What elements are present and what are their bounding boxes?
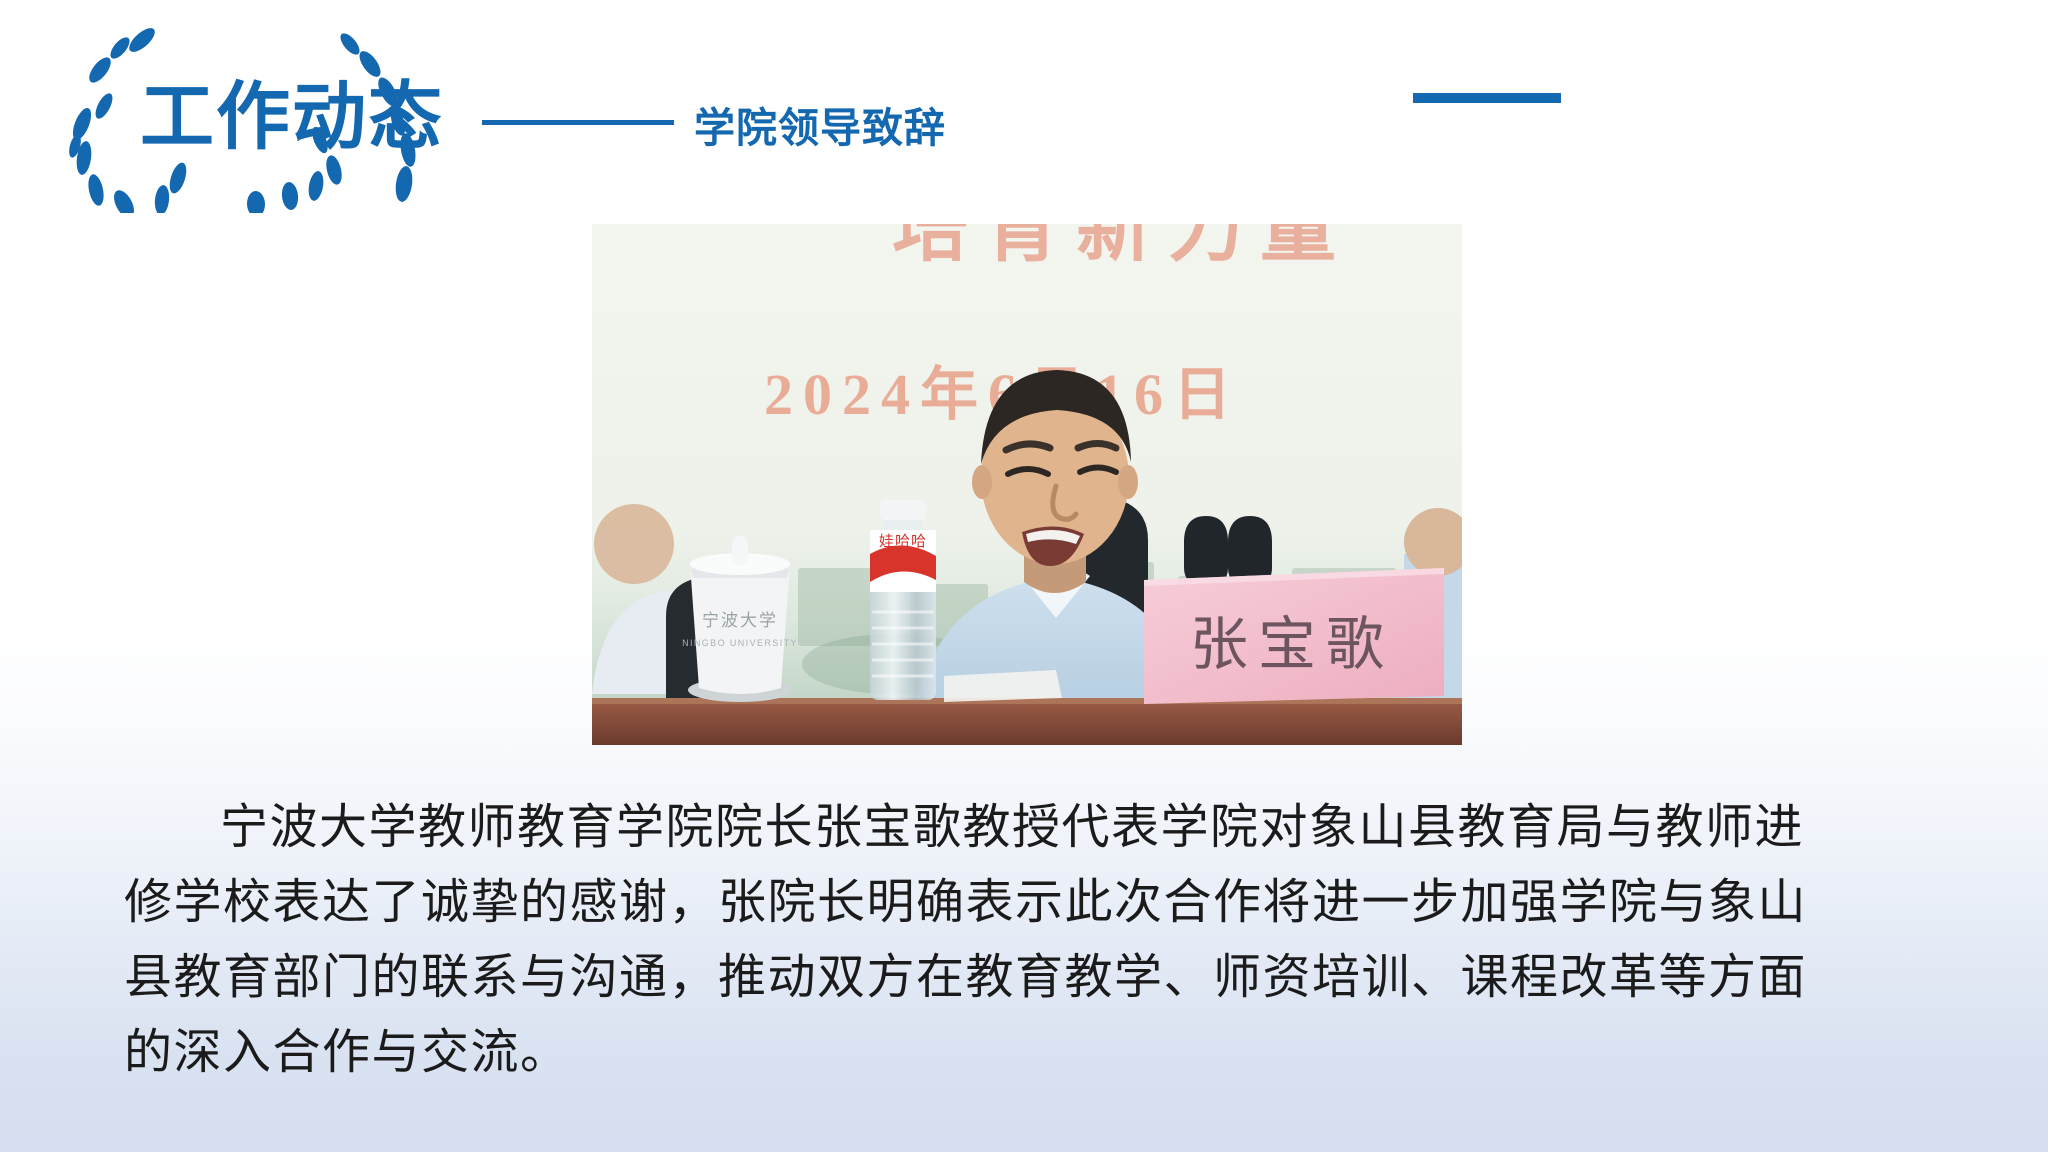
svg-text:张宝歌: 张宝歌 (1190, 612, 1394, 677)
paragraph-line: 县教育部门的联系与沟通，推动双方在教育教学、师资培训、课程改革等方面 (124, 940, 1934, 1015)
corner-accent-bar-icon (1413, 93, 1561, 103)
nameplate: 张宝歌 (1144, 568, 1444, 704)
meeting-photo: 培育新力量 2024年6月16日 (592, 224, 1462, 745)
page-title: 工作动态 (140, 78, 444, 156)
paragraph-line: 的深入合作与交流。 (124, 1015, 1934, 1090)
svg-text:NINGBO UNIVERSITY: NINGBO UNIVERSITY (682, 638, 798, 648)
slide-header: 工作动态 学院领导致辞 (0, 0, 2048, 230)
svg-text:宁波大学: 宁波大学 (702, 611, 778, 630)
paragraph-line: 宁波大学教师教育学院院长张宝歌教授代表学院对象山县教育局与教师进 (124, 790, 1934, 865)
paragraph-line: 修学校表达了诚挚的感谢，张院长明确表示此次合作将进一步加强学院与象山 (124, 865, 1934, 940)
svg-text:培育新力量: 培育新力量 (892, 224, 1352, 271)
svg-text:娃哈哈: 娃哈哈 (879, 533, 927, 550)
body-text: 宁波大学教师教育学院院长张宝歌教授代表学院对象山县教育局与教师进 修学校表达了诚… (124, 790, 1934, 1090)
slide-root: 工作动态 学院领导致辞 (0, 0, 2048, 1152)
horizontal-rule-icon (482, 120, 674, 125)
section-subtitle: 学院领导致辞 (694, 104, 946, 152)
